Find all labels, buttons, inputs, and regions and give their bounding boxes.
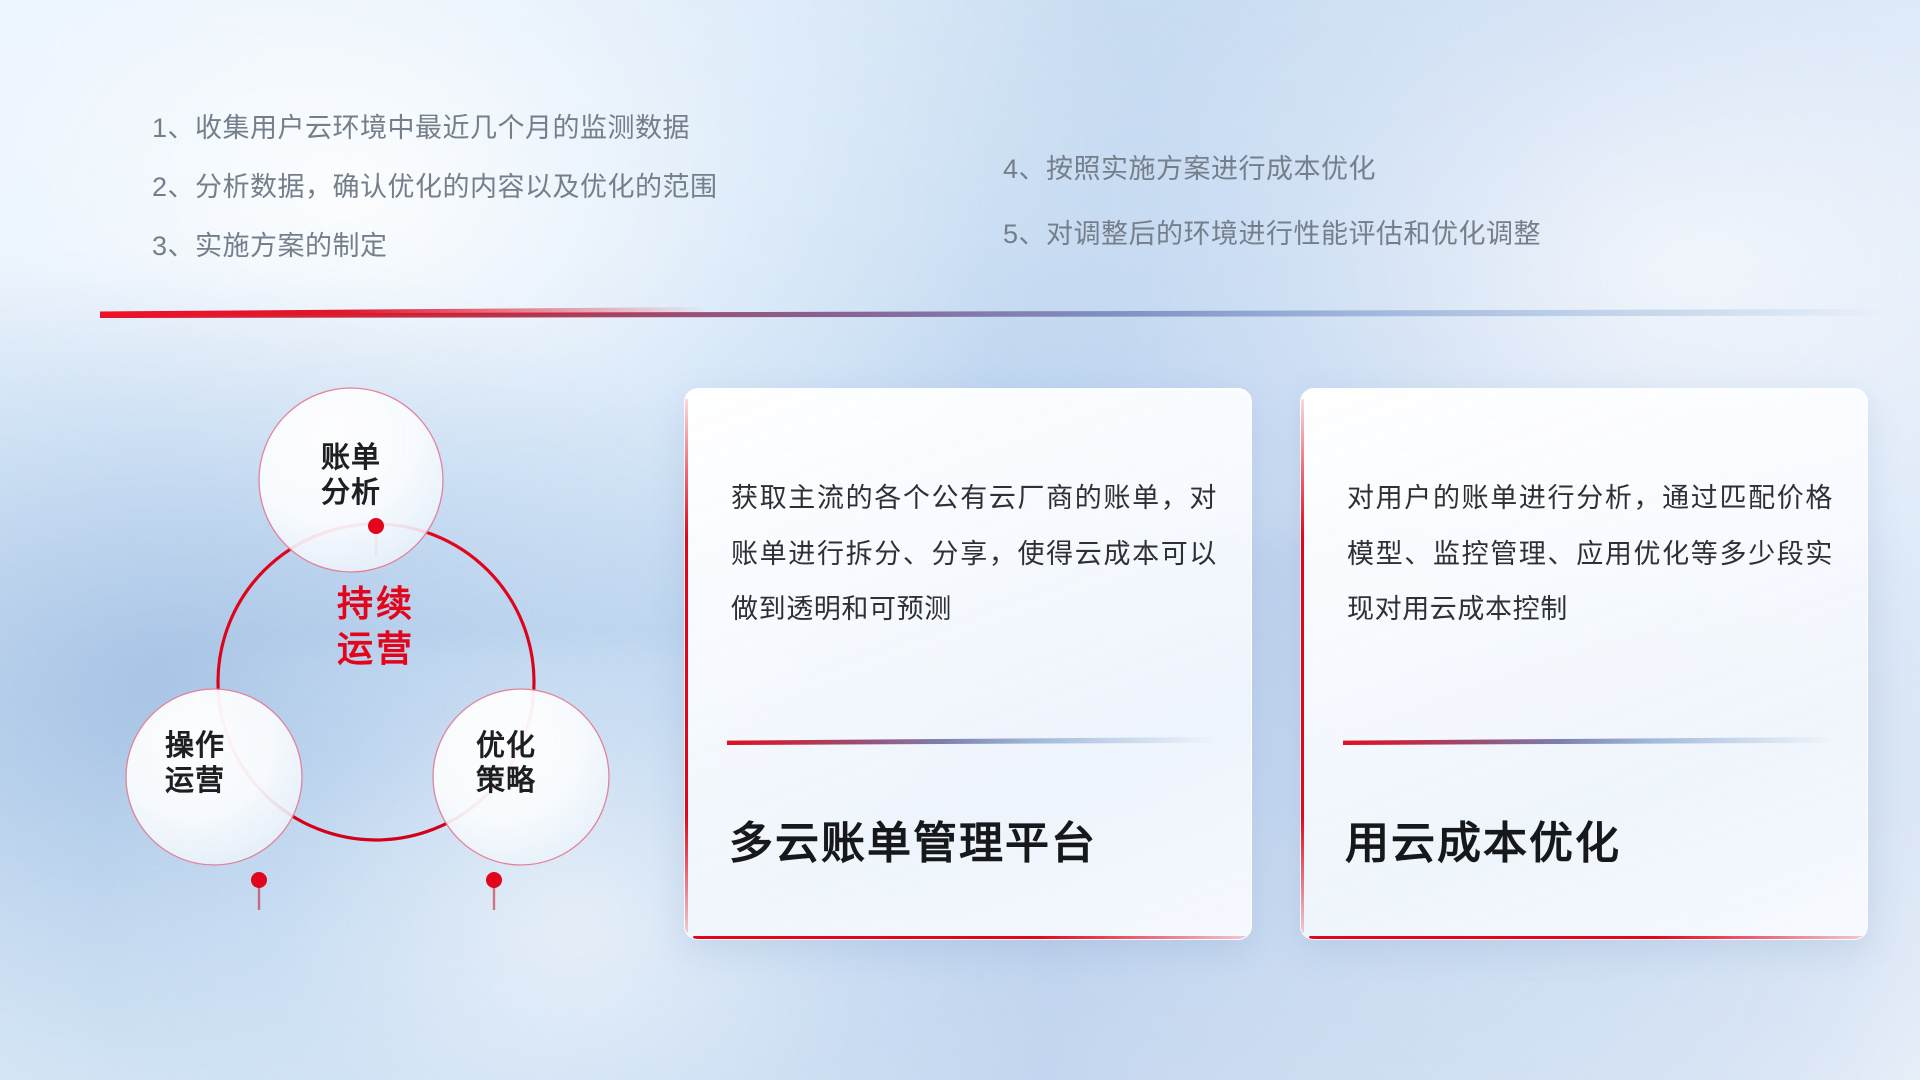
diagram-node-bill-analysis: 账单 分析 bbox=[271, 441, 431, 512]
step-list-left: 1、收集用户云环境中最近几个月的监测数据 2、分析数据，确认优化的内容以及优化的… bbox=[152, 115, 718, 292]
card-left-accent bbox=[1301, 399, 1304, 933]
card-bottom-accent bbox=[1309, 936, 1864, 939]
card-rule bbox=[727, 737, 1217, 746]
step-item-5: 5、对调整后的环境进行性能评估和优化调整 bbox=[1003, 221, 1541, 248]
diagram-dot-right bbox=[486, 872, 502, 888]
section-divider bbox=[100, 306, 1890, 320]
card-description: 获取主流的各个公有云厂商的账单，对账单进行拆分、分享，使得云成本可以做到透明和可… bbox=[731, 471, 1217, 638]
card-title: 多云账单管理平台 bbox=[729, 807, 1097, 871]
diagram-node-line2: 运营 bbox=[165, 765, 225, 797]
diagram-node-line2: 分析 bbox=[321, 477, 381, 509]
step-list-right: 4、按照实施方案进行成本优化 5、对调整后的环境进行性能评估和优化调整 bbox=[1003, 156, 1541, 286]
step-item-1: 1、收集用户云环境中最近几个月的监测数据 bbox=[152, 115, 718, 142]
diagram-node-line1: 优化 bbox=[476, 730, 536, 762]
diagram-center-label: 持续 运营 bbox=[276, 582, 476, 671]
card-rule-gradient bbox=[1343, 737, 1833, 745]
step-item-2: 2、分析数据，确认优化的内容以及优化的范围 bbox=[152, 174, 718, 201]
diagram-node-line1: 操作 bbox=[165, 730, 225, 762]
card-rule-gradient bbox=[727, 737, 1217, 745]
step-item-3: 3、实施方案的制定 bbox=[152, 233, 718, 260]
card-rule bbox=[1343, 737, 1833, 746]
diagram-center-line1: 持续 bbox=[337, 583, 415, 624]
card-description: 对用户的账单进行分析，通过匹配价格模型、监控管理、应用优化等多少段实现对用云成本… bbox=[1347, 471, 1833, 638]
card-bottom-accent bbox=[693, 936, 1248, 939]
diagram-dot-top bbox=[368, 518, 384, 534]
diagram-center-line2: 运营 bbox=[337, 628, 415, 669]
diagram-node-optimize-policy: 优化 策略 bbox=[426, 729, 586, 800]
card-left-accent bbox=[685, 399, 688, 933]
card-title: 用云成本优化 bbox=[1345, 807, 1621, 871]
diagram-node-line2: 策略 bbox=[476, 765, 536, 797]
diagram-dot-left bbox=[251, 872, 267, 888]
info-card-cloud-cost-optimization[interactable]: 对用户的账单进行分析，通过匹配价格模型、监控管理、应用优化等多少段实现对用云成本… bbox=[1300, 388, 1868, 940]
continuous-operation-diagram: 账单 分析 操作 运营 优化 策略 持续 运营 bbox=[96, 352, 656, 952]
diagram-node-line1: 账单 bbox=[321, 442, 381, 474]
info-card-multi-cloud-bill-platform[interactable]: 获取主流的各个公有云厂商的账单，对账单进行拆分、分享，使得云成本可以做到透明和可… bbox=[684, 388, 1252, 940]
diagram-node-ops-operation: 操作 运营 bbox=[115, 729, 275, 800]
step-item-4: 4、按照实施方案进行成本优化 bbox=[1003, 156, 1541, 183]
